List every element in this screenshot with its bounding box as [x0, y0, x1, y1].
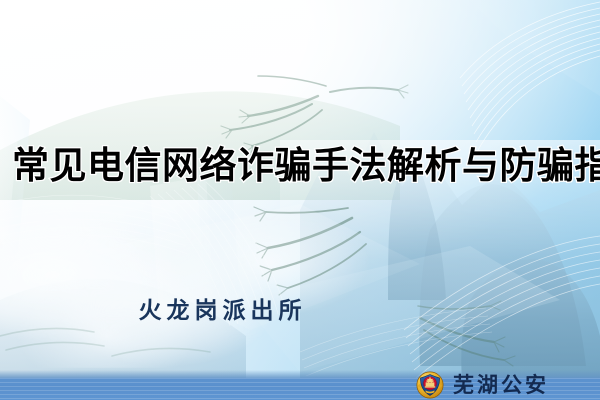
agency-logo-text: 芜湖公安 — [453, 373, 549, 397]
sea-of-clouds — [0, 208, 408, 368]
agency-logo: 芜湖公安 — [416, 369, 549, 400]
subtitle-organization: 火龙岗派出所 — [0, 296, 440, 326]
police-badge-icon — [416, 371, 444, 399]
title-slide: 常见电信网络诈骗手法解析与防骗指南 火龙岗派出所 — [0, 0, 600, 400]
mountain-silhouettes — [0, 0, 600, 400]
glass-panels — [0, 0, 600, 400]
color-wash — [0, 0, 600, 400]
pine-trees — [0, 0, 600, 400]
sky-gradient-layer — [0, 0, 600, 400]
ribbon-line-bundles — [0, 0, 600, 400]
page-title: 常见电信网络诈骗手法解析与防骗指南 — [12, 144, 592, 188]
